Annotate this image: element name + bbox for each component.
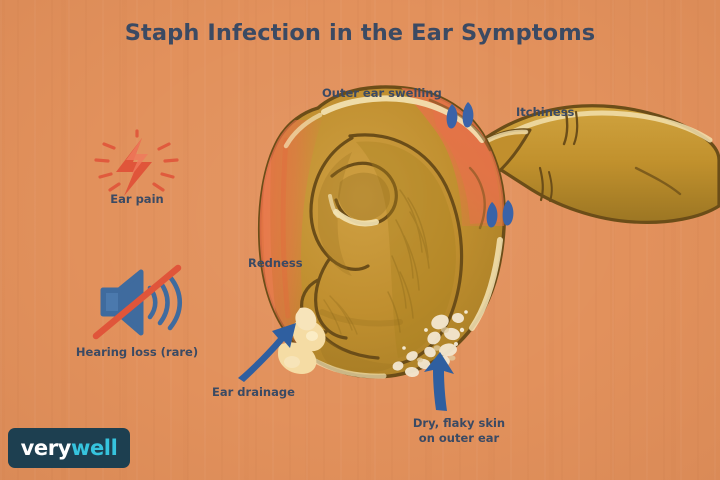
- label-itchiness: Itchiness: [516, 105, 574, 120]
- label-outer-ear-swelling: Outer ear swelling: [322, 86, 442, 101]
- label-ear-pain: Ear pain: [57, 192, 217, 207]
- logo-text-very: very: [21, 436, 71, 460]
- verywell-logo[interactable]: verywell: [8, 428, 130, 468]
- infographic-canvas: Staph Infection in the Ear Symptoms: [0, 0, 720, 480]
- label-dry-flaky-skin: Dry, flaky skin on outer ear: [379, 416, 539, 446]
- label-ear-drainage: Ear drainage: [212, 385, 295, 400]
- logo-text-well: well: [71, 436, 117, 460]
- label-dry-flaky-skin-line1: Dry, flaky skin: [413, 416, 505, 430]
- label-hearing-loss: Hearing loss (rare): [47, 345, 227, 360]
- label-dry-flaky-skin-line2: on outer ear: [419, 431, 499, 445]
- ear-illustration: [0, 0, 720, 480]
- label-redness: Redness: [248, 256, 303, 271]
